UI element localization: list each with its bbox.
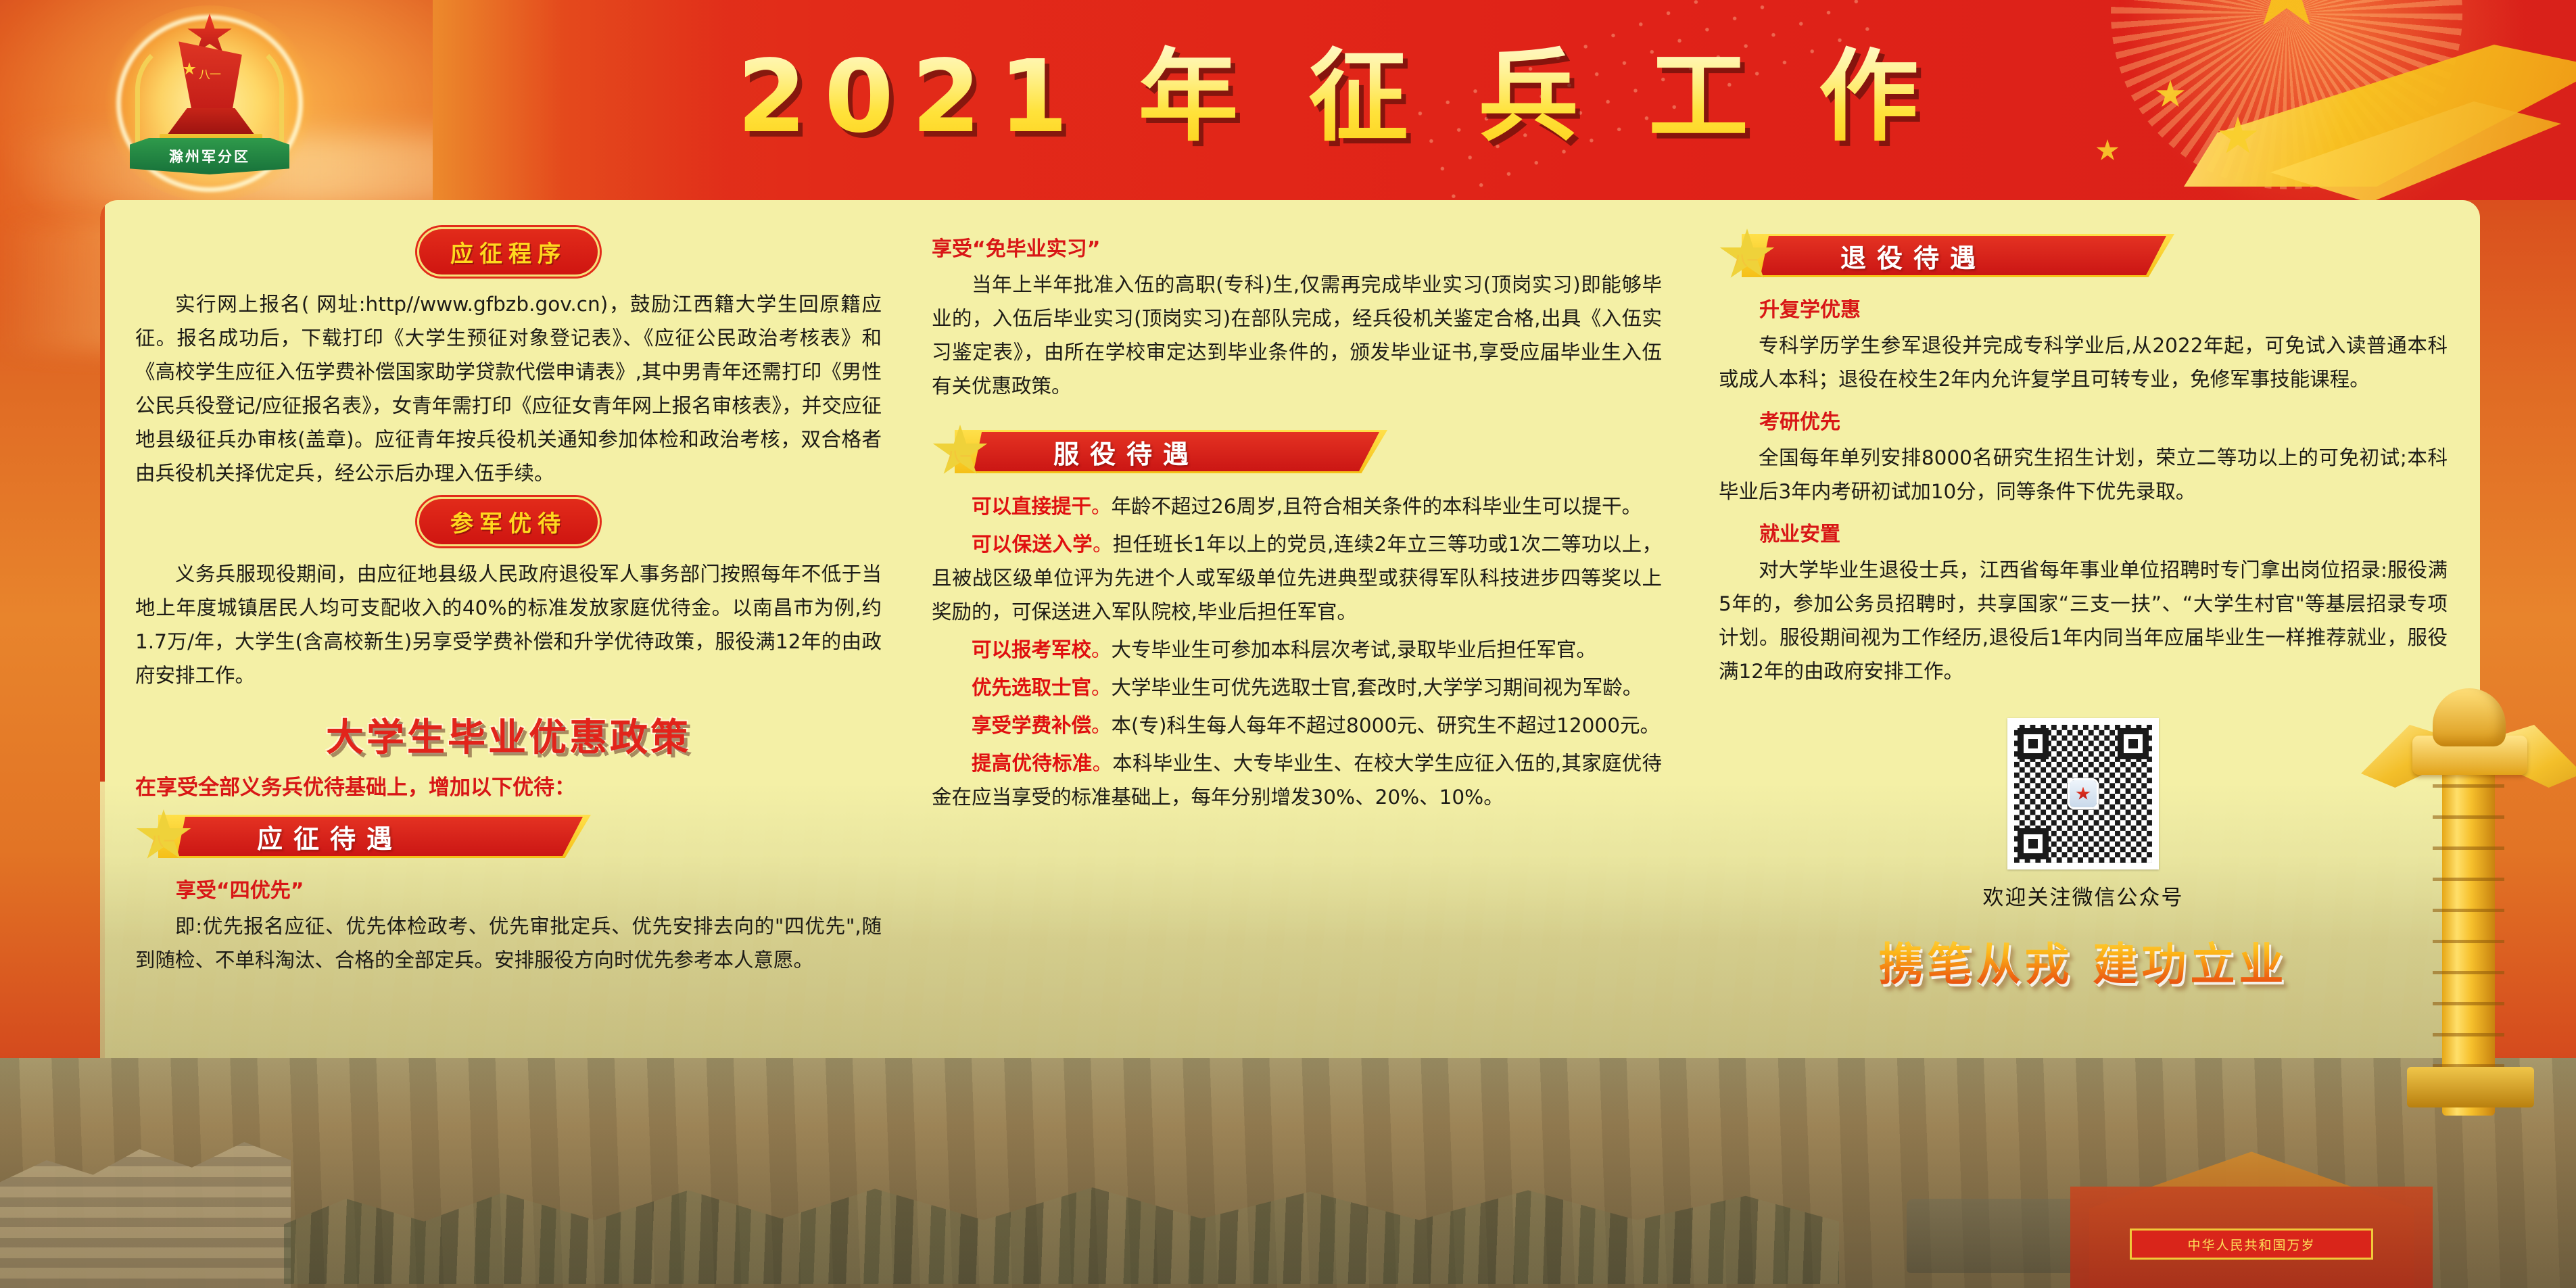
bullet-separator: 。 [1091,676,1112,699]
bullet-item: 提高优待标准。本科毕业生、大专毕业生、在校大学生应征入伍的,其家庭优待金在应当享… [932,746,1662,814]
column-three: 八一 退役待遇 升复学优惠专科学历学生参军退役并完成专科学业后,从2022年起，… [1689,223,2480,1066]
qr-center-logo [2070,780,2097,807]
column-two: 享受“免毕业实习” 当年上半年批准入伍的高职(专科)生,仅需再完成毕业实习(顶岗… [911,223,1689,1066]
section-header-veteran-treatment: 八一 退役待遇 [1719,230,2448,281]
military-emblem: 八一 滁州军分区 [101,5,318,201]
content-columns: 应征程序 实行网上报名( 网址:http//www.gfbzb.gov.cn)，… [100,200,2480,1066]
bayi-star-label: 八一 [150,830,177,850]
bullet-label: 优先选取士官 [972,676,1091,699]
banner-red-flag: 服役待遇 [974,432,1379,471]
bullet-separator: 。 [1091,714,1112,737]
pillar-beast-icon [2433,688,2506,746]
footer-slogan: 携笔从戎 建功立业 [1719,928,2448,993]
section-title-label: 参军优待 [450,510,567,538]
tiananmen-banner-label: 中华人民共和国万岁 [2187,1235,2315,1254]
qr-finder-top-right [2118,728,2149,759]
pillar-rings [2433,784,2504,1102]
banner-red-flag: 退役待遇 [1761,236,2166,275]
bullet-item: 可以报考军校。大专毕业生可参加本科层次考试,录取毕业后担任军官。 [932,633,1662,667]
header-left-fade [433,0,723,200]
benefit-subheading: 升复学优惠 [1759,293,2448,327]
veteran-benefit-blocks: 升复学优惠专科学历学生参军退役并完成专科学业后,从2022年起，可免试入读普通本… [1719,293,2448,688]
bullet-label: 可以保送入学 [972,533,1093,556]
benefit-subheading: 考研优先 [1759,406,2448,439]
page-title: 2021 年 征 兵 工 作 [737,26,1940,174]
subheading-internship-waiver: 享受“免毕业实习” [932,233,1662,266]
bayi-star-label: 八一 [947,446,974,465]
soldiers-photo [284,1142,1839,1284]
benefit-subheading: 就业安置 [1759,518,2448,552]
heading-graduate-policy: 大学生毕业优惠政策 [135,707,882,762]
paragraph-recruitment-procedure: 实行网上报名( 网址:http//www.gfbzb.gov.cn)，鼓励江西籍… [135,287,882,490]
section-header-enlistment-treatment: 八一 应征待遇 [135,811,882,862]
qr-code-image[interactable] [2007,718,2159,869]
emblem-banner: 滁州军分区 [130,138,289,174]
huabiao-pillar-decoration [2380,683,2562,1102]
bayi-star-label: 八一 [1734,249,1761,269]
bullet-separator: 。 [1093,752,1113,775]
qr-code-caption: 欢迎关注微信公众号 [1719,880,2448,911]
qr-finder-top-left [2018,728,2049,759]
bullet-item: 享受学费补偿。本(专)科生每人每年不超过8000元、研究生不超过12000元。 [932,709,1662,742]
bullet-item: 优先选取士官。大学毕业生可优先选取士官,套改时,大学学习期间视为军龄。 [932,671,1662,705]
paragraph-service-benefits: 义务兵服现役期间，由应征地县级人民政府退役军人事务部门按照每年不低于当地上年度城… [135,557,882,692]
qr-finder-bottom-left [2018,828,2049,859]
bottom-photo-strip: 中华人民共和国万岁 [0,1058,2576,1288]
paragraph-internship-waiver: 当年上半年批准入伍的高职(专科)生,仅需再完成毕业实习(顶岗实习)即能够毕业的，… [932,268,1662,403]
bullet-text: 大学毕业生可优先选取士官,套改时,大学学习期间视为军龄。 [1112,676,1643,699]
section-header-recruitment-procedure: 应征程序 [417,227,600,277]
banner-red-flag: 应征待遇 [177,817,583,856]
great-wall-photo [0,1105,291,1288]
bullet-text: 大专毕业生可参加本科层次考试,录取毕业后担任军官。 [1112,638,1596,661]
section-title-label: 应征待遇 [257,818,403,855]
column-one: 应征程序 实行网上报名( 网址:http//www.gfbzb.gov.cn)，… [100,223,911,1066]
paragraph-four-priorities: 即:优先报名应征、优先体检政考、优先审批定兵、优先安排去向的"四优先",随到随检… [135,909,882,977]
qr-code-block: 欢迎关注微信公众号 [1719,718,2448,911]
emblem-flag-mark: 八一 [199,65,220,82]
benefit-paragraph: 全国每年单列安排8000名研究生招生计划，荣立二等功以上的可免初试;本科毕业后3… [1719,441,2448,508]
pillar-base [2407,1067,2534,1107]
bullet-separator: 。 [1091,638,1112,661]
section-header-active-duty-treatment: 八一 服役待遇 [932,426,1662,477]
bullet-label: 可以直接提干 [972,495,1091,518]
bullet-text: 本(专)科生每人每年不超过8000元、研究生不超过12000元。 [1112,714,1660,737]
bullet-separator: 。 [1091,495,1112,518]
emblem-banner-label: 滁州军分区 [169,146,250,166]
section-title-label: 退役待遇 [1840,237,1986,275]
lead-text-graduate-policy: 在享受全部义务兵优待基础上，增加以下优待： [135,771,882,804]
content-panel: 应征程序 实行网上报名( 网址:http//www.gfbzb.gov.cn)，… [100,200,2480,1066]
section-title-label: 服役待遇 [1053,433,1199,471]
poster-root: 八一 滁州军分区 2021 年 征 兵 工 作 应征程序 实行网上报名( 网址:… [0,0,2576,1288]
section-title-label: 应征程序 [450,241,567,268]
tiananmen-banner: 中华人民共和国万岁 [2130,1229,2373,1260]
subheading-four-priorities: 享受“四优先” [176,874,882,908]
bullet-label: 享受学费补偿 [972,714,1091,737]
section-header-service-benefits: 参军优待 [417,497,600,546]
qr-code-modules [2014,725,2152,863]
bullet-label: 可以报考军校 [972,638,1091,661]
benefit-paragraph: 对大学毕业生退役士兵，江西省每年事业单位招聘时专门拿出岗位招录:服役满5年的，参… [1719,553,2448,688]
bullet-item: 可以保送入学。担任班长1年以上的党员,连续2年立三等功或1次二等功以上，且被战区… [932,527,1662,629]
bullet-separator: 。 [1093,533,1113,556]
bullet-item: 可以直接提干。年龄不超过26周岁,且符合相关条件的本科毕业生可以提干。 [932,490,1662,523]
bullet-list-active-duty: 可以直接提干。年龄不超过26周岁,且符合相关条件的本科毕业生可以提干。可以保送入… [932,490,1662,814]
benefit-paragraph: 专科学历学生参军退役并完成专科学业后,从2022年起，可免试入读普通本科或成人本… [1719,329,2448,396]
bullet-text: 年龄不超过26周岁,且符合相关条件的本科毕业生可以提干。 [1112,495,1642,518]
qr-logo-star-icon [2076,787,2091,801]
bullet-label: 提高优待标准 [972,752,1093,775]
